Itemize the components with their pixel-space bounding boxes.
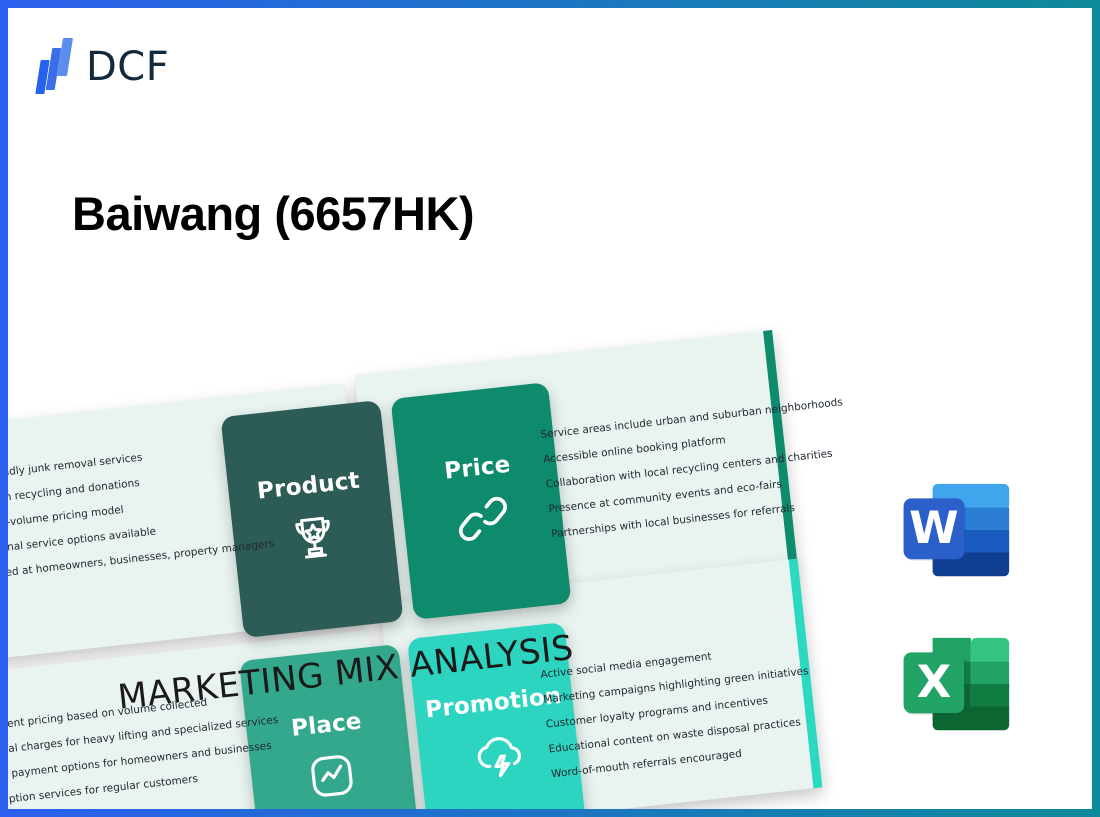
excel-glyph: X xyxy=(917,655,952,708)
card-price-label: Price xyxy=(443,452,512,485)
brand-logo[interactable]: DCF xyxy=(36,38,169,96)
pulse-square-icon xyxy=(301,745,363,807)
brand-logo-text: DCF xyxy=(86,44,169,90)
microsoft-word-icon[interactable]: W xyxy=(893,468,1025,600)
page-title: Baiwang (6657HK) xyxy=(72,186,474,241)
trophy-icon xyxy=(283,506,345,568)
marketing-mix-diagram: Product Price xyxy=(0,330,870,817)
bar-chart-logo-icon xyxy=(36,38,74,96)
cloud-lightning-icon xyxy=(468,723,530,785)
card-place-label: Place xyxy=(290,708,363,741)
link-chain-icon xyxy=(452,488,514,550)
card-price[interactable]: Price xyxy=(390,382,571,620)
word-glyph: W xyxy=(909,501,959,554)
frame-top-border xyxy=(0,0,1100,8)
microsoft-excel-icon[interactable]: X xyxy=(893,622,1025,754)
slide-page: DCF Baiwang (6657HK) Product xyxy=(0,0,1100,817)
frame-right-border xyxy=(1092,0,1100,817)
card-product-label: Product xyxy=(256,468,361,505)
